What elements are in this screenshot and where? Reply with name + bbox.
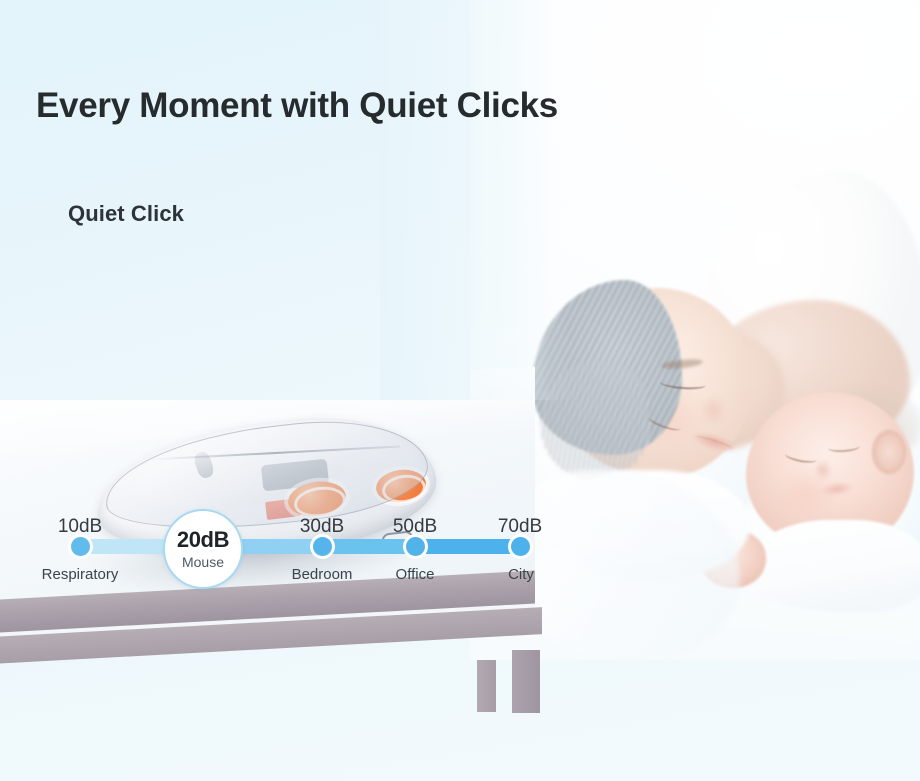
- scale-dot-office[interactable]: [406, 537, 425, 556]
- mother-lips: [689, 428, 740, 457]
- section-subtitle: Quiet Click: [68, 201, 184, 227]
- scale-db-bedroom: 30dB: [272, 516, 372, 538]
- page-title: Every Moment with Quiet Clicks: [36, 86, 558, 126]
- baby-nose: [814, 460, 832, 480]
- scale-track-segment-3: [320, 539, 420, 554]
- baby-closed-eye-right: [828, 441, 861, 453]
- scale-db-respiratory: 10dB: [30, 516, 130, 538]
- baby-ear: [872, 430, 906, 474]
- mother-neck: [655, 330, 785, 450]
- product-banner: Every Moment with Quiet Clicks Quiet Cli…: [0, 0, 920, 781]
- baby-closed-eye-left: [784, 449, 817, 465]
- baby-head: [746, 392, 914, 552]
- baby-hair: [800, 382, 920, 462]
- mother-closed-eye: [660, 376, 707, 390]
- scale-db-office: 50dB: [365, 516, 465, 538]
- scale-source-office: Office: [360, 566, 470, 583]
- scale-track-segment-4: [412, 539, 524, 554]
- scale-dot-city[interactable]: [511, 537, 530, 556]
- desk-leg-right: [512, 650, 540, 713]
- baby-sleeve: [560, 470, 750, 580]
- mother-body: [700, 170, 920, 430]
- baby-arm: [742, 520, 920, 612]
- scale-track-segment-1: [78, 539, 170, 554]
- badge-decibel-value: 20dB: [177, 529, 229, 551]
- mother-shoulder: [700, 300, 910, 450]
- mother-nose: [700, 395, 726, 425]
- badge-source-label: Mouse: [182, 555, 224, 569]
- scale-dot-bedroom[interactable]: [313, 537, 332, 556]
- mother-cheek: [620, 380, 706, 450]
- pillow-secondary: [790, 390, 920, 610]
- baby-lips: [819, 480, 855, 499]
- decibel-scale: 10dB Respiratory 30dB Bedroom 50dB Offic…: [0, 250, 560, 342]
- baby-hand: [700, 530, 766, 588]
- scale-dot-respiratory[interactable]: [71, 537, 90, 556]
- mother-eyelash: [647, 412, 682, 434]
- scale-db-city: 70dB: [470, 516, 570, 538]
- mother-eyebrow: [661, 358, 704, 370]
- mother-lip-line: [694, 434, 734, 453]
- mother-head: [556, 288, 752, 478]
- scale-source-city: City: [468, 566, 574, 583]
- scale-highlight-badge-mouse[interactable]: 20dB Mouse: [163, 509, 243, 589]
- desk-leg-left: [477, 660, 496, 712]
- baby-cheek: [776, 470, 836, 518]
- scale-source-respiratory: Respiratory: [20, 566, 140, 583]
